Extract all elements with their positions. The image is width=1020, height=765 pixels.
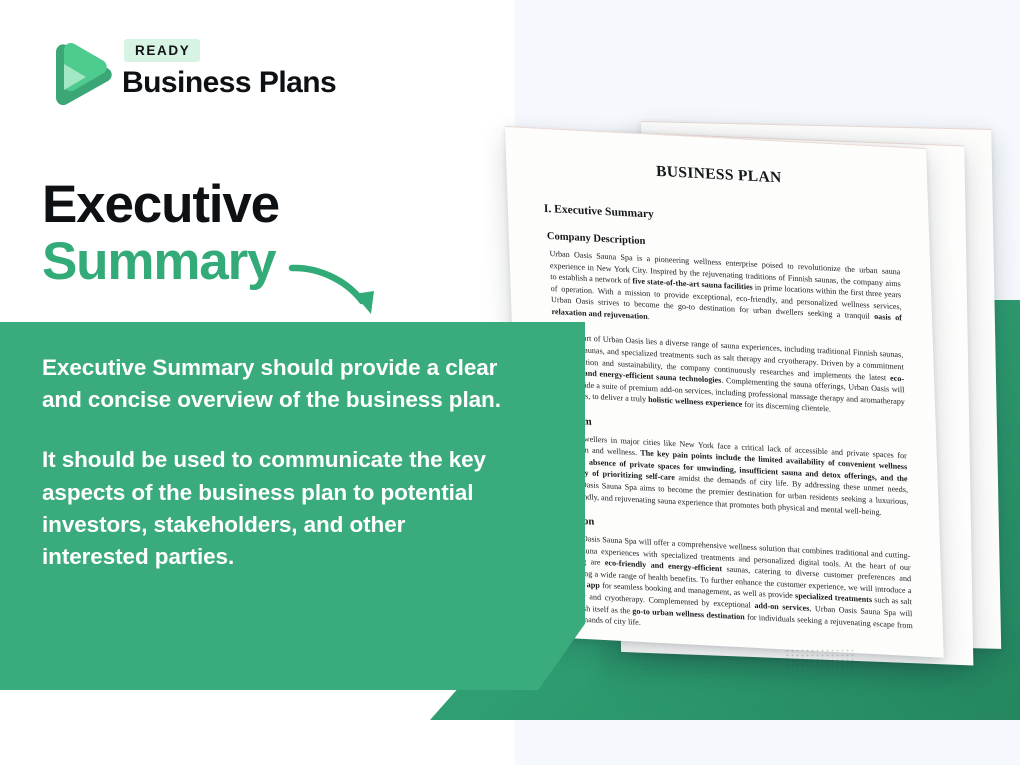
page-title-line-2: Summary [42, 233, 279, 290]
brand-wordmark: Business Plans [122, 66, 336, 100]
document-title: BUSINESS PLAN [540, 157, 897, 194]
document-subsection: Company Description Urban Oasis Sauna Sp… [543, 231, 906, 419]
page-title: Executive Summary [42, 176, 279, 290]
brand-logo[interactable]: READY Business Plans [42, 36, 342, 114]
double-play-triangle-logo-icon [42, 36, 114, 112]
curved-down-right-arrow-icon [288, 258, 388, 326]
slide-canvas: BUSINESS PLAN I. Executive Summary Compa… [0, 0, 1020, 765]
document-section-heading: I. Executive Summary [544, 203, 899, 234]
body-copy: Executive Summary should provide a clear… [42, 352, 512, 573]
document-subsection: Solution Urban Oasis Sauna Spa will offe… [553, 515, 914, 643]
body-paragraph-2: It should be used to communicate the key… [42, 444, 512, 573]
subsection-paragraph: At the heart of Urban Oasis lies a diver… [552, 331, 905, 419]
subsection-paragraph: Urban Oasis Sauna Spa is a pioneering we… [549, 248, 902, 336]
halftone-dot-texture [785, 648, 855, 670]
page-title-line-1: Executive [42, 176, 279, 233]
document-subsection: Problem Urban dwellers in major cities l… [549, 414, 909, 519]
subsection-paragraph: Urban dwellers in major cities like New … [556, 432, 909, 520]
subsection-paragraph: Urban Oasis Sauna Spa will offer a compr… [559, 532, 913, 643]
body-paragraph-1: Executive Summary should provide a clear… [42, 352, 512, 416]
ready-badge: READY [124, 39, 200, 62]
